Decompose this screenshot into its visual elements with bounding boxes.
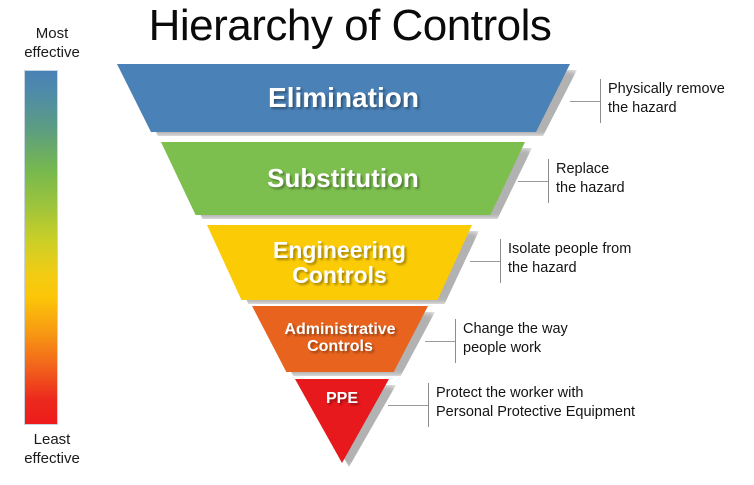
callout-substitution-bracket [548,159,549,203]
hierarchy-of-controls-diagram: Hierarchy of Controls Most effective Lea… [0,0,754,485]
callout-administrative-bracket [455,319,456,363]
callout-ppe-leader [388,405,428,406]
engineering-controls-label-line1: Engineering [273,238,406,262]
engineering-controls-label-line2: Controls [273,263,406,287]
callout-elimination-line2: the hazard [608,99,677,118]
callout-substitution-line2: the hazard [556,179,625,198]
substitution-label: Substitution [267,165,419,192]
callout-administrative-leader [425,341,455,342]
callout-engineering-bracket [500,239,501,283]
callout-ppe-line2: Personal Protective Equipment [436,403,635,422]
administrative-controls-label-line2: Controls [284,339,395,356]
inverted-pyramid: Elimination Substitution Engineering Con… [0,0,754,485]
engineering-controls-label: Engineering Controls [273,238,406,286]
callout-elimination-bracket [600,79,601,123]
callout-elimination-line1: Physically remove [608,80,725,99]
callout-substitution-leader [518,181,548,182]
callout-ppe-bracket [428,383,429,427]
callout-administrative-line2: people work [463,339,541,358]
elimination-label: Elimination [268,83,419,112]
callout-engineering-line2: the hazard [508,259,577,278]
pyramid-level-substitution[interactable]: Substitution [161,142,525,215]
pyramid-level-engineering-controls[interactable]: Engineering Controls [207,225,472,300]
ppe-label: PPE [326,391,358,408]
administrative-controls-label: Administrative Controls [284,322,395,356]
pyramid-level-elimination[interactable]: Elimination [117,64,570,132]
administrative-controls-label-line1: Administrative [284,322,395,339]
callout-substitution-line1: Replace [556,160,609,179]
callout-administrative-line1: Change the way [463,320,568,339]
callout-ppe-line1: Protect the worker with [436,384,583,403]
callout-elimination-leader [570,101,600,102]
callout-engineering-leader [470,261,500,262]
callout-engineering-line1: Isolate people from [508,240,631,259]
